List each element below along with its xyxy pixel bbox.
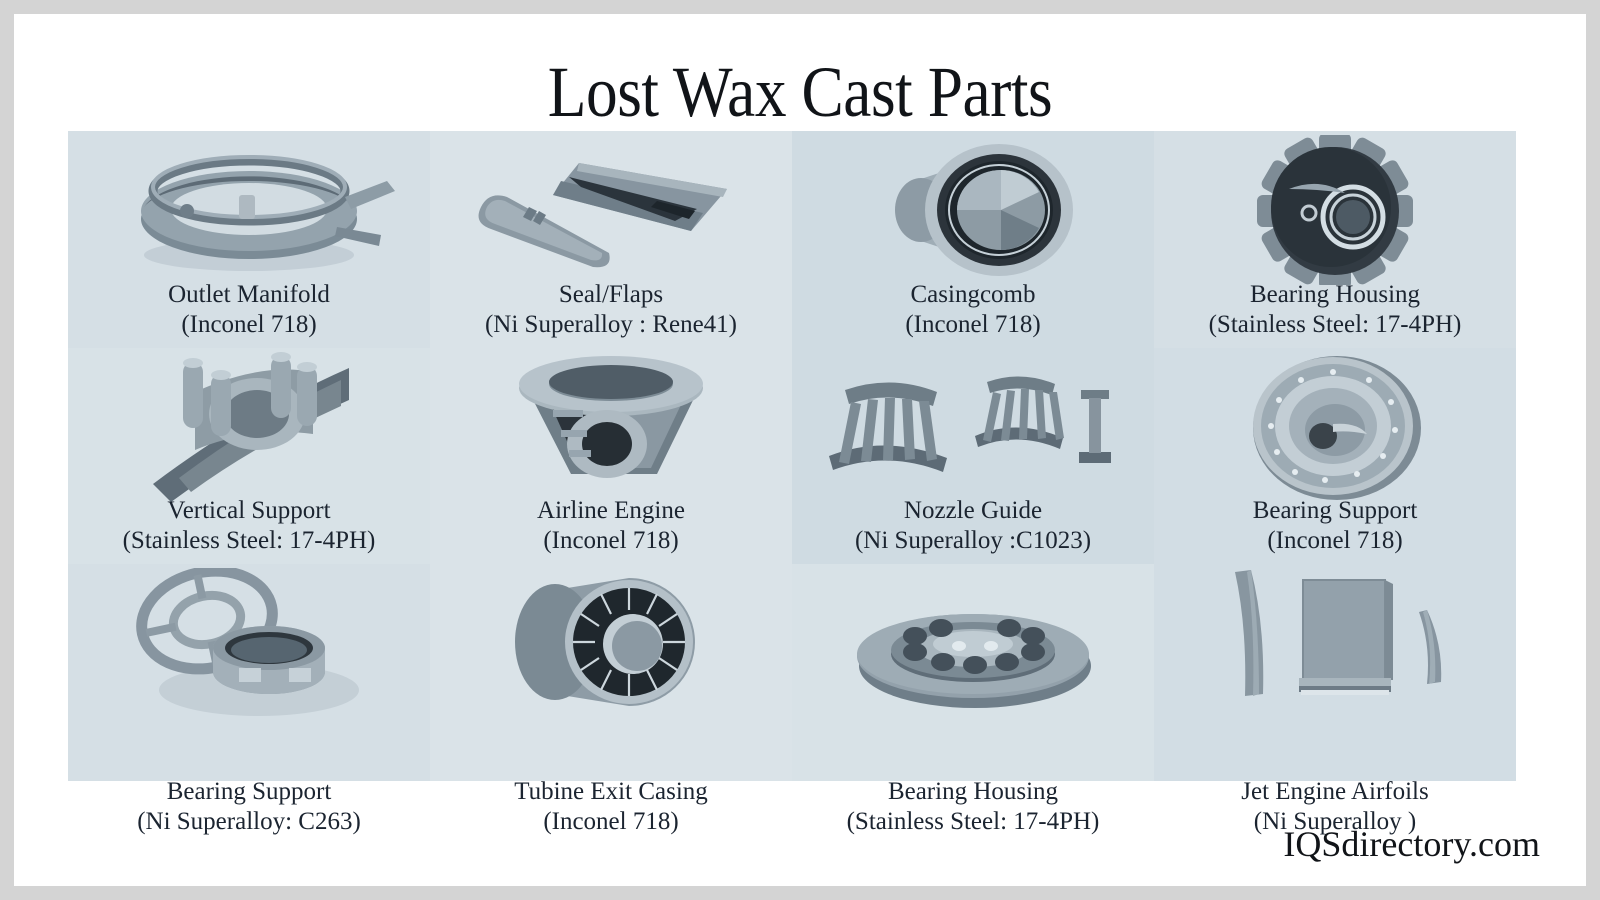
gallery-cell[interactable]: Casingcomb (Inconel 718) — [792, 131, 1154, 348]
part-material: (Stainless Steel: 17-4PH) — [774, 807, 1172, 837]
caption: Seal/Flaps (Ni Superalloy : Rene41) — [412, 280, 810, 340]
gallery-cell[interactable]: Jet Engine Airfoils (Ni Superalloy ) — [1154, 564, 1516, 781]
gallery-cell[interactable]: Outlet Manifold (Inconel 718) — [68, 131, 430, 348]
part-material: (Inconel 718) — [412, 526, 810, 556]
gallery-cell[interactable]: Airline Engine (Inconel 718) — [430, 348, 792, 565]
part-material: (Inconel 718) — [1136, 526, 1534, 556]
gallery-cell[interactable]: Tubine Exit Casing (Inconel 718) — [430, 564, 792, 781]
caption: Bearing Housing (Stainless Steel: 17-4PH… — [774, 777, 1172, 837]
part-material: (Inconel 718) — [50, 310, 448, 340]
bearing-support-ring-flange-part-icon — [68, 568, 430, 718]
caption: Tubine Exit Casing (Inconel 718) — [412, 777, 810, 837]
part-material: (Inconel 718) — [412, 807, 810, 837]
caption: Nozzle Guide (Ni Superalloy :C1023) — [774, 496, 1172, 556]
caption: Airline Engine (Inconel 718) — [412, 496, 810, 556]
gallery-cell[interactable]: Nozzle Guide (Ni Superalloy :C1023) — [792, 348, 1154, 565]
bearing-housing-toothed-part-icon — [1154, 135, 1516, 285]
site-watermark: IQSdirectory.com — [1283, 824, 1540, 864]
part-material: (Inconel 718) — [774, 310, 1172, 340]
part-name: Bearing Housing — [1250, 281, 1420, 308]
caption: Bearing Support (Inconel 718) — [1136, 496, 1534, 556]
seal-flaps-blade-part-icon — [430, 135, 792, 285]
caption: Bearing Support (Ni Superalloy: C263) — [50, 777, 448, 837]
outlet-manifold-ring-part-icon — [68, 135, 430, 285]
caption: Bearing Housing (Stainless Steel: 17-4PH… — [1136, 280, 1534, 340]
gallery-cell[interactable]: Vertical Support (Stainless Steel: 17-4P… — [68, 348, 430, 565]
gallery-cell[interactable]: Bearing Housing (Stainless Steel: 17-4PH… — [1154, 131, 1516, 348]
bearing-support-disc-part-icon — [1154, 352, 1516, 502]
part-name: Jet Engine Airfoils — [1241, 778, 1428, 805]
part-name: Casingcomb — [911, 281, 1036, 308]
part-name: Bearing Housing — [888, 778, 1058, 805]
part-name: Bearing Support — [1253, 497, 1418, 524]
vertical-support-bracket-part-icon — [68, 352, 430, 502]
jet-engine-airfoils-part-icon — [1154, 568, 1516, 718]
gallery-cell[interactable]: Bearing Support (Inconel 718) — [1154, 348, 1516, 565]
gallery-cell[interactable]: Bearing Housing (Stainless Steel: 17-4PH… — [792, 564, 1154, 781]
part-name: Bearing Support — [167, 778, 332, 805]
nozzle-guide-vane-segments-part-icon — [792, 352, 1154, 502]
part-name: Outlet Manifold — [168, 281, 330, 308]
part-name: Vertical Support — [167, 497, 330, 524]
gallery-cell[interactable]: Bearing Support (Ni Superalloy: C263) — [68, 564, 430, 781]
part-name: Seal/Flaps — [559, 281, 663, 308]
caption: Vertical Support (Stainless Steel: 17-4P… — [50, 496, 448, 556]
turbine-exit-casing-bladed-ring-part-icon — [430, 568, 792, 718]
page-title: Lost Wax Cast Parts — [108, 52, 1491, 132]
part-material: (Stainless Steel: 17-4PH) — [50, 526, 448, 556]
gallery-cell[interactable]: Seal/Flaps (Ni Superalloy : Rene41) — [430, 131, 792, 348]
casingcomb-conical-part-icon — [792, 135, 1154, 285]
bearing-housing-flat-ring-part-icon — [792, 568, 1154, 718]
part-name: Nozzle Guide — [904, 497, 1042, 524]
part-name: Airline Engine — [537, 497, 685, 524]
parts-grid: Outlet Manifold (Inconel 718) — [68, 131, 1516, 781]
caption: Outlet Manifold (Inconel 718) — [50, 280, 448, 340]
parts-gallery-panel: Outlet Manifold (Inconel 718) — [68, 131, 1516, 781]
part-material: (Stainless Steel: 17-4PH) — [1136, 310, 1534, 340]
part-material: (Ni Superalloy: C263) — [50, 807, 448, 837]
part-material: (Ni Superalloy :C1023) — [774, 526, 1172, 556]
part-material: (Ni Superalloy : Rene41) — [412, 310, 810, 340]
caption: Casingcomb (Inconel 718) — [774, 280, 1172, 340]
airline-engine-flanged-cone-part-icon — [430, 352, 792, 502]
part-name: Tubine Exit Casing — [514, 778, 708, 805]
poster-page: Lost Wax Cast Parts — [14, 14, 1586, 886]
